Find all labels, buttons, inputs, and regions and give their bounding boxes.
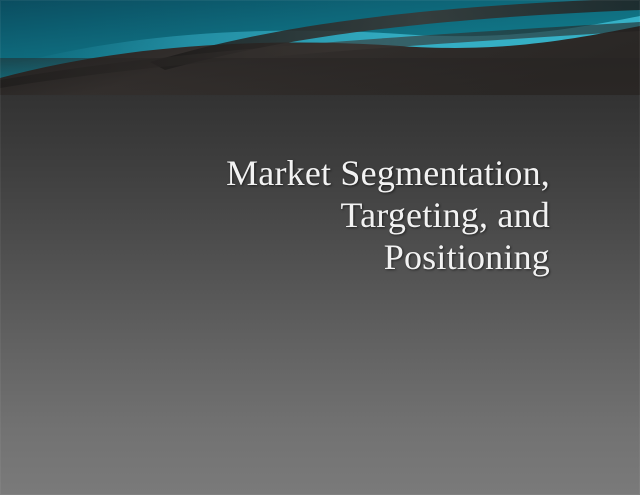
title-block: Market Segmentation, Targeting, and Posi… bbox=[60, 152, 550, 278]
wave-band-decoration bbox=[0, 0, 640, 95]
wave-graphic bbox=[0, 0, 640, 95]
title-slide: Market Segmentation, Targeting, and Posi… bbox=[0, 0, 640, 495]
wave-fade bbox=[0, 58, 640, 95]
page-title: Market Segmentation, Targeting, and Posi… bbox=[60, 152, 550, 278]
